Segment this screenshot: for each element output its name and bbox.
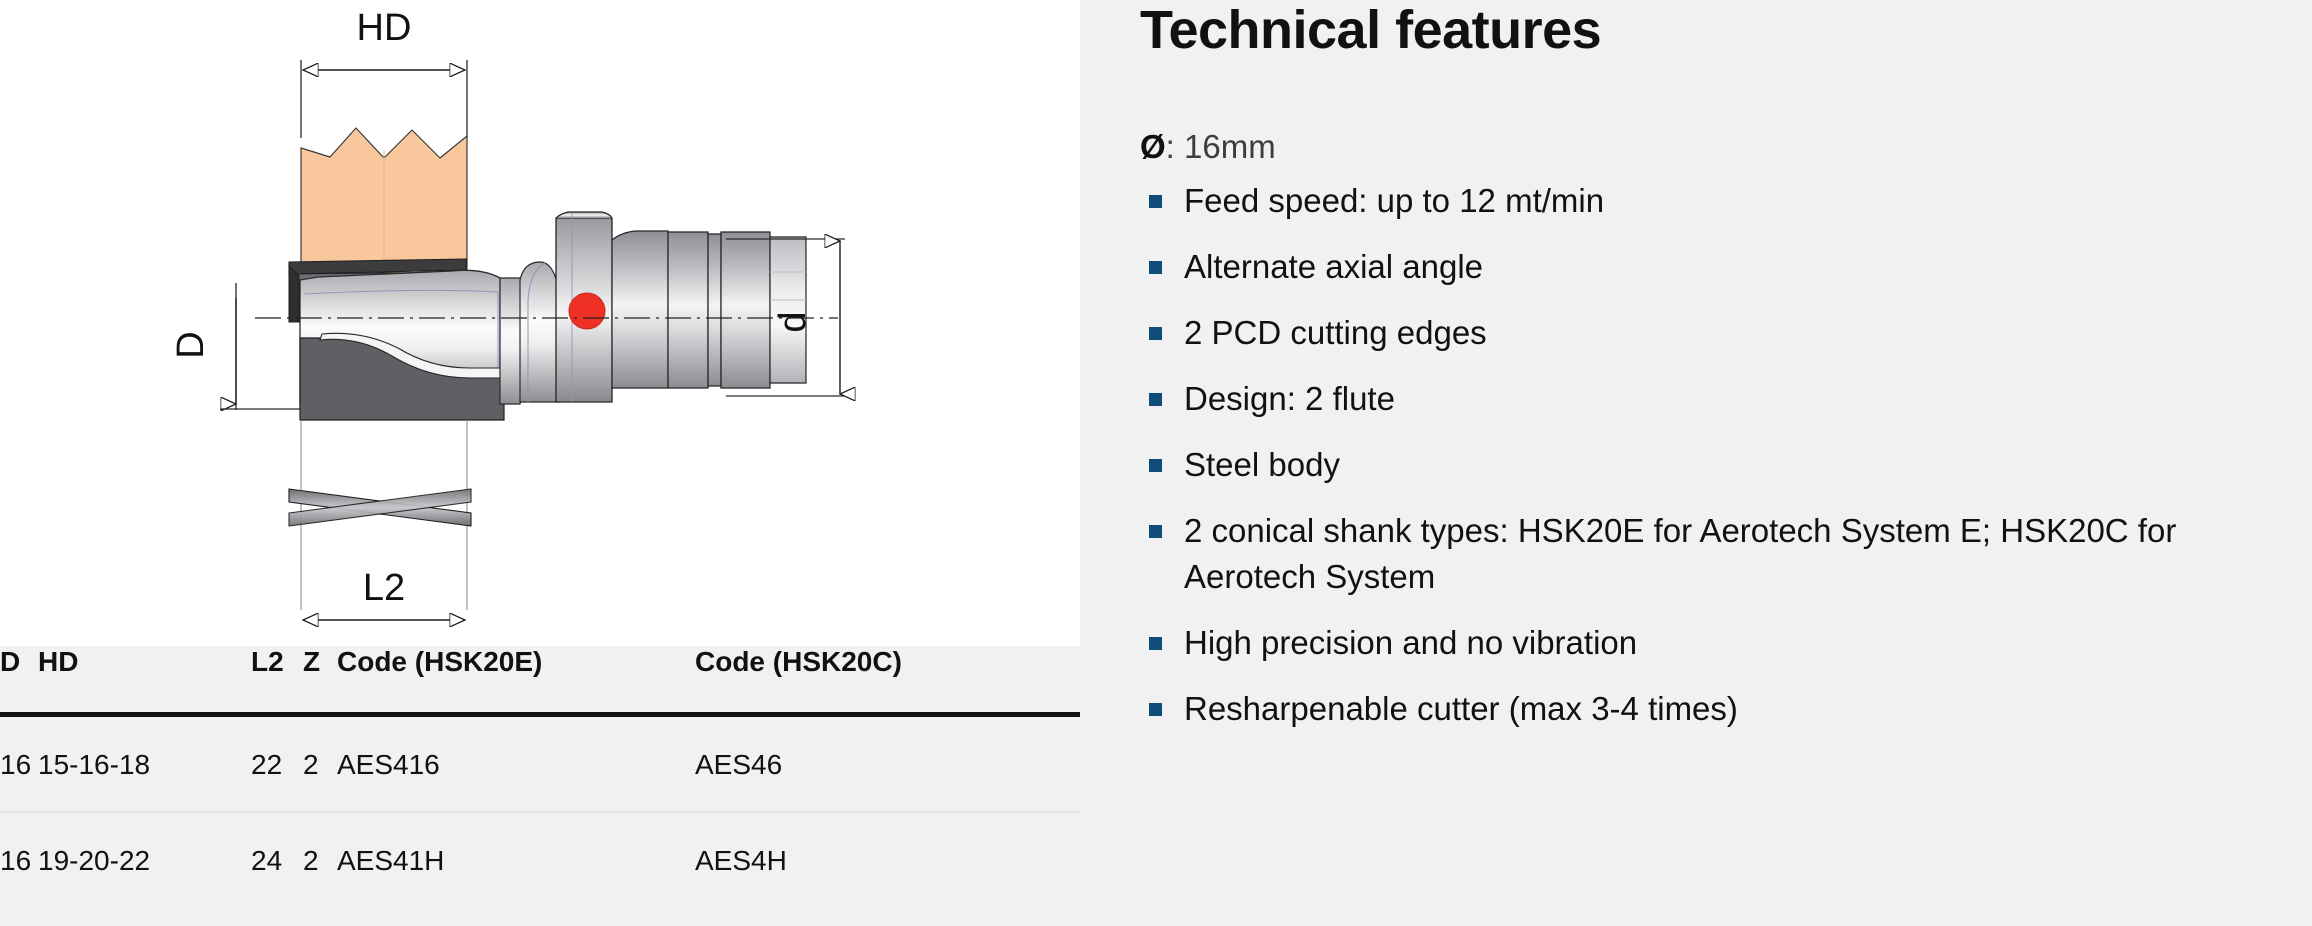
column-header-z: Z bbox=[303, 646, 337, 715]
l2-dimension-label: L2 bbox=[363, 567, 405, 609]
cell-hd: 15-16-18 bbox=[38, 715, 251, 813]
cell-d: 16 bbox=[0, 812, 38, 907]
diameter-symbol: Ø bbox=[1140, 128, 1166, 165]
cell-l2: 24 bbox=[251, 812, 303, 907]
column-header-d: D bbox=[0, 646, 38, 715]
square-bullet-icon bbox=[1149, 195, 1162, 208]
list-item: Resharpenable cutter (max 3-4 times) bbox=[1140, 686, 2260, 732]
cell-hd: 19-20-22 bbox=[38, 812, 251, 907]
list-item-label: 2 conical shank types: HSK20E for Aerote… bbox=[1184, 512, 2176, 595]
list-item: High precision and no vibration bbox=[1140, 620, 2260, 666]
cell-code-c: AES4H bbox=[695, 812, 1080, 907]
cell-code-e: AES416 bbox=[337, 715, 695, 813]
hd-dimension-group: HD bbox=[301, 7, 467, 138]
square-bullet-icon bbox=[1149, 327, 1162, 340]
diameter-value: : 16mm bbox=[1166, 128, 1276, 165]
shank-steps bbox=[612, 231, 806, 388]
square-bullet-icon bbox=[1149, 637, 1162, 650]
d-minor-dimension-label: d bbox=[772, 311, 814, 332]
list-item: Steel body bbox=[1140, 442, 2260, 488]
page-title: Technical features bbox=[1140, 1, 1601, 60]
features-list: Feed speed: up to 12 mt/min Alternate ax… bbox=[1140, 178, 2260, 752]
list-item: Design: 2 flute bbox=[1140, 376, 2260, 422]
hd-dimension-label: HD bbox=[357, 7, 412, 49]
list-item-label: 2 PCD cutting edges bbox=[1184, 314, 1487, 351]
specification-table: D HD L2 Z Code (HSK20E) Code (HSK20C) 16… bbox=[0, 646, 1080, 907]
column-header-code-e: Code (HSK20E) bbox=[337, 646, 695, 715]
technical-drawing-panel: HD D bbox=[0, 0, 1080, 646]
list-item-label: Steel body bbox=[1184, 446, 1340, 483]
table-row: 16 19-20-22 24 2 AES41H AES4H bbox=[0, 812, 1080, 907]
l2-section-detail: L2 bbox=[289, 420, 471, 620]
diameter-spec: Ø: 16mm bbox=[1140, 128, 1276, 166]
list-item: Alternate axial angle bbox=[1140, 244, 2260, 290]
list-item-label: Resharpenable cutter (max 3-4 times) bbox=[1184, 690, 1738, 727]
square-bullet-icon bbox=[1149, 703, 1162, 716]
specification-table-wrapper: D HD L2 Z Code (HSK20E) Code (HSK20C) 16… bbox=[0, 646, 1080, 926]
square-bullet-icon bbox=[1149, 261, 1162, 274]
cell-z: 2 bbox=[303, 715, 337, 813]
tool-neck bbox=[520, 262, 560, 402]
list-item-label: Alternate axial angle bbox=[1184, 248, 1483, 285]
cell-l2: 22 bbox=[251, 715, 303, 813]
column-header-l2: L2 bbox=[251, 646, 303, 715]
list-item-label: Design: 2 flute bbox=[1184, 380, 1395, 417]
table-row: 16 15-16-18 22 2 AES416 AES46 bbox=[0, 715, 1080, 813]
column-header-code-c: Code (HSK20C) bbox=[695, 646, 1080, 715]
d-major-dimension-label: D bbox=[170, 331, 212, 358]
list-item: 2 PCD cutting edges bbox=[1140, 310, 2260, 356]
cell-code-e: AES41H bbox=[337, 812, 695, 907]
square-bullet-icon bbox=[1149, 393, 1162, 406]
column-header-hd: HD bbox=[38, 646, 251, 715]
list-item-label: Feed speed: up to 12 mt/min bbox=[1184, 182, 1604, 219]
red-marker-dot bbox=[569, 293, 605, 329]
technical-features-panel: Technical features Ø: 16mm Feed speed: u… bbox=[1140, 0, 2260, 926]
cell-d: 16 bbox=[0, 715, 38, 813]
cutter-head bbox=[289, 259, 528, 420]
cell-z: 2 bbox=[303, 812, 337, 907]
cell-code-c: AES46 bbox=[695, 715, 1080, 813]
square-bullet-icon bbox=[1149, 525, 1162, 538]
table-header-row: D HD L2 Z Code (HSK20E) Code (HSK20C) bbox=[0, 646, 1080, 715]
list-item-label: High precision and no vibration bbox=[1184, 624, 1637, 661]
tool-assembly-drawing: HD D bbox=[0, 0, 1080, 646]
square-bullet-icon bbox=[1149, 459, 1162, 472]
list-item: 2 conical shank types: HSK20E for Aerote… bbox=[1140, 508, 2260, 600]
list-item: Feed speed: up to 12 mt/min bbox=[1140, 178, 2260, 224]
tool-collar bbox=[556, 212, 612, 402]
